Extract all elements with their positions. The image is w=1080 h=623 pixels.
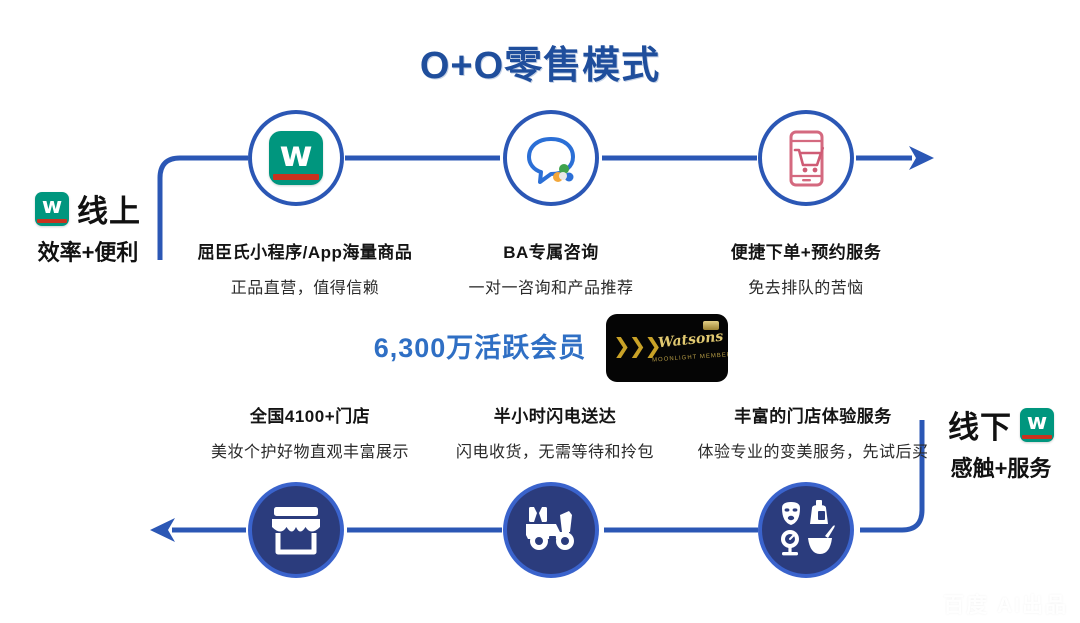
label-online-title: 线上 (77, 186, 141, 231)
card-script-text: Watsons (657, 329, 724, 352)
caption-bottom-3: 丰富的门店体验服务 体验专业的变美服务，先试后买 (683, 402, 943, 462)
watsons-w-logo-icon: w (1020, 408, 1054, 442)
storefront-icon (267, 503, 325, 557)
member-count-text: 6,300万活跃会员 (360, 326, 600, 365)
caption-head: 屈臣氏小程序/App海量商品 (145, 238, 465, 263)
label-offline-title: 线下 (948, 402, 1012, 447)
caption-head: 半小时闪电送达 (430, 402, 680, 427)
caption-desc: 一对一咨询和产品推荐 (426, 274, 676, 298)
chat-bubble-icon (520, 127, 582, 189)
caption-top-1: 屈臣氏小程序/App海量商品 正品直营，值得信赖 (145, 238, 465, 298)
card-chevrons: ❯❯❯ (613, 336, 660, 357)
watsons-w-logo-icon: w (35, 192, 69, 226)
label-offline-sub: 感触+服务 (925, 451, 1077, 483)
caption-head: 便捷下单+预约服务 (681, 238, 931, 263)
logo-red-bar (1022, 435, 1052, 439)
label-offline: 线下 w 感触+服务 (925, 402, 1077, 483)
watsons-app-icon: w (269, 131, 323, 185)
membership-card-image: ❯❯❯ Watsons MOONLIGHT MEMBER CARD (606, 314, 728, 382)
caption-desc: 免去排队的苦恼 (681, 274, 931, 298)
caption-bottom-1: 全国4100+门店 美妆个护好物直观丰富展示 (175, 402, 445, 462)
logo-red-bar (273, 174, 319, 180)
caption-desc: 正品直营，值得信赖 (145, 274, 465, 298)
caption-head: 丰富的门店体验服务 (683, 402, 943, 427)
logo-red-bar (37, 219, 67, 223)
beauty-services-icon (774, 500, 838, 560)
caption-top-3: 便捷下单+预约服务 免去排队的苦恼 (681, 238, 931, 298)
arrow-head-right (909, 146, 934, 170)
arrow-head-left (150, 518, 175, 542)
node-bottom-services[interactable] (758, 482, 854, 578)
label-online-sub: 效率+便利 (8, 235, 168, 267)
caption-top-2: BA专属咨询 一对一咨询和产品推荐 (426, 238, 676, 298)
node-top-watsons-app[interactable]: w (248, 110, 344, 206)
caption-head: BA专属咨询 (426, 238, 676, 263)
watermark: 百度 AI出品 (943, 589, 1068, 619)
caption-desc: 闪电收货，无需等待和拎包 (430, 438, 680, 462)
node-top-order-booking[interactable] (758, 110, 854, 206)
card-sub-text: MOONLIGHT MEMBER CARD (652, 350, 728, 363)
caption-head: 全国4100+门店 (175, 402, 445, 427)
caption-desc: 体验专业的变美服务，先试后买 (683, 438, 943, 462)
infographic-canvas: O+O零售模式 w 线上 效率+便利 线下 w (0, 0, 1080, 623)
label-online: w 线上 效率+便利 (8, 186, 168, 267)
caption-bottom-2: 半小时闪电送达 闪电收货，无需等待和拎包 (430, 402, 680, 462)
node-bottom-stores[interactable] (248, 482, 344, 578)
mobile-shopping-cart-icon (777, 127, 835, 189)
caption-desc: 美妆个护好物直观丰富展示 (175, 438, 445, 462)
node-bottom-delivery[interactable] (503, 482, 599, 578)
node-top-ba-consult[interactable] (503, 110, 599, 206)
delivery-scooter-icon (520, 503, 582, 557)
